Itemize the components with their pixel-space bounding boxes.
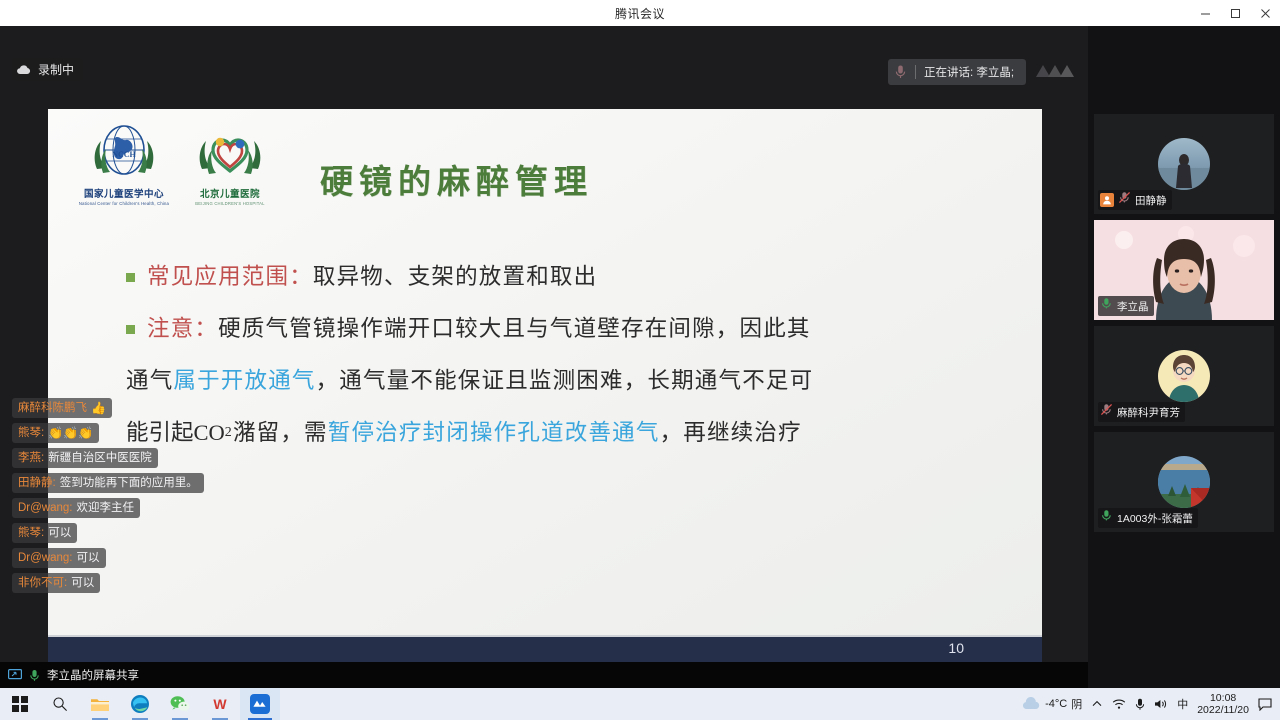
taskbar-edge-browser[interactable] (120, 688, 160, 720)
participant-rail: 田静静李立晶麻醉科尹育芳1A003外-张霜蕾 (1088, 26, 1280, 688)
banner-divider (915, 65, 916, 79)
slide-footer: 10 (48, 637, 1042, 662)
line4-d: ，再继续治疗 (660, 407, 802, 459)
microphone-on-icon (1100, 297, 1113, 315)
share-status-bar: 李立晶的屏幕共享 (0, 662, 1088, 688)
action-center-icon (1258, 698, 1272, 711)
participant-name: 李立晶 (1117, 299, 1149, 314)
system-tray: -4°C 阴 (1021, 688, 1280, 720)
bullet-square-icon (126, 273, 135, 282)
rail-spacer (1088, 26, 1280, 114)
microphone-on-icon (1100, 509, 1113, 527)
windows-taskbar: W -4°C 阴 (0, 688, 1280, 720)
microphone-muted-icon (1118, 191, 1131, 209)
tray-weather[interactable]: -4°C 阴 (1021, 696, 1082, 712)
tray-temperature: -4°C (1045, 698, 1067, 710)
logo-ncch-en: National Center for Children's Health, C… (78, 201, 170, 206)
taskbar-items: W (0, 688, 280, 720)
chat-sender: Dr@wang: (18, 550, 73, 566)
participant-name-chip: 田静静 (1098, 190, 1172, 210)
chat-sender: 李燕: (18, 450, 44, 466)
tray-network-button[interactable] (1112, 698, 1126, 710)
bullet-1-rest: 取异物、支架的放置和取出 (313, 264, 597, 289)
taskbar-search-button[interactable] (40, 688, 80, 720)
tray-overflow-button[interactable] (1091, 698, 1103, 710)
chat-text: 欢迎李主任 (77, 500, 135, 516)
slide-body: 常见应用范围：取异物、支架的放置和取出 注意：硬质气管镜操作端开口较大且与气道壁… (126, 251, 1006, 459)
file-explorer-icon (90, 696, 110, 713)
avatar (1158, 350, 1210, 402)
chat-bubble: 熊琴:👏👏👏 (12, 423, 99, 443)
chat-sender: 熊琴: (18, 425, 44, 441)
chat-text: 新疆自治区中医医院 (48, 450, 152, 466)
windows-start-button[interactable] (0, 688, 40, 720)
tray-time: 10:08 (1197, 692, 1249, 704)
chat-message: 熊琴:可以 (12, 523, 252, 543)
tray-microphone-button[interactable] (1135, 698, 1145, 711)
participant-tile[interactable]: 1A003外-张霜蕾 (1094, 432, 1274, 532)
chat-bubble: 麻醉科陈鹏飞👍 (12, 398, 112, 418)
bullet-item-1: 常见应用范围：取异物、支架的放置和取出 (126, 251, 1006, 303)
cloud-icon (16, 64, 31, 75)
chat-text: 可以 (71, 575, 94, 591)
screen-root: 腾讯会议 (0, 0, 1280, 720)
chat-sender: 麻醉科陈鹏飞 (18, 400, 87, 416)
logo-bch-en: BEIJING CHILDREN'S HOSPITAL (184, 201, 276, 206)
chat-bubble: Dr@wang:可以 (12, 548, 106, 568)
chat-bubble: 非你不可:可以 (12, 573, 100, 593)
chat-message: Dr@wang:可以 (12, 548, 252, 568)
avatar (1158, 456, 1210, 508)
recording-indicator[interactable]: 录制中 (12, 58, 83, 81)
chat-sender: Dr@wang: (18, 500, 73, 516)
line4-highlight: 暂停治疗封闭操作孔道改善通气 (328, 407, 660, 459)
windows-start-icon (12, 696, 28, 712)
logo-ncch-cn: 国家儿童医学中心 (78, 186, 170, 200)
avatar (1158, 138, 1210, 190)
participant-tile[interactable]: 田静静 (1094, 114, 1274, 214)
tray-ime-indicator[interactable]: 中 (1177, 696, 1188, 712)
bullet-2-rest: 硬质气管镜操作端开口较大且与气道壁存在间隙，因此其 (218, 316, 811, 341)
tray-clock[interactable]: 10:08 2022/11/20 (1197, 692, 1249, 716)
bullet-square-icon (126, 325, 135, 334)
taskbar-tencent-meeting[interactable] (240, 688, 280, 720)
participant-name-chip: 1A003外-张霜蕾 (1098, 508, 1198, 528)
taskbar-wechat[interactable] (160, 688, 200, 720)
participant-tile[interactable]: 麻醉科尹育芳 (1094, 326, 1274, 426)
svg-text:NCCH: NCCH (112, 150, 136, 159)
bullet-item-2: 注意：硬质气管镜操作端开口较大且与气道壁存在间隙，因此其 (126, 303, 1006, 355)
wps-office-icon: W (210, 696, 230, 712)
chat-overlay: 麻醉科陈鹏飞👍熊琴:👏👏👏李燕:新疆自治区中医医院田静静:签到功能再下面的应用里… (12, 398, 252, 598)
bullet-line-4: 能引起CO2潴留，需暂停治疗封闭操作孔道改善通气，再继续治疗 (126, 407, 1006, 459)
chat-emoji: 👍 (91, 402, 106, 414)
participant-tiles: 田静静李立晶麻醉科尹育芳1A003外-张霜蕾 (1088, 114, 1280, 532)
wifi-icon (1112, 698, 1126, 710)
participant-name: 麻醉科尹育芳 (1117, 405, 1180, 420)
recording-label: 录制中 (38, 61, 74, 78)
bullet-line-3: 通气属于开放通气，通气量不能保证且监测困难，长期通气不足可 (126, 355, 1006, 407)
close-icon (1260, 8, 1271, 19)
cloud-weather-icon (1021, 697, 1041, 711)
logo-ncch: NCCH 国家儿童医学中心 National Center for Childr… (78, 123, 170, 206)
chat-sender: 非你不可: (18, 575, 67, 591)
chat-message: 田静静:签到功能再下面的应用里。 (12, 473, 252, 493)
participant-name-chip: 麻醉科尹育芳 (1098, 402, 1185, 422)
chat-message: Dr@wang:欢迎李主任 (12, 498, 252, 518)
bullet-1-lead: 常见应用范围： (147, 264, 313, 289)
ncch-emblem-icon: NCCH (87, 123, 161, 181)
taskbar-wps-office[interactable]: W (200, 688, 240, 720)
chat-text: 可以 (77, 550, 100, 566)
minimize-icon (1200, 8, 1211, 19)
logo-bch-cn: 北京儿童医院 (184, 186, 276, 200)
chat-bubble: 李燕:新疆自治区中医医院 (12, 448, 158, 468)
bch-emblem-icon (193, 123, 267, 181)
tray-date: 2022/11/20 (1197, 704, 1249, 716)
minimize-button[interactable] (1190, 0, 1220, 26)
search-icon (52, 696, 68, 712)
edge-browser-icon (130, 694, 150, 714)
microphone-tray-icon (1135, 698, 1145, 711)
tencent-meeting-icon (250, 694, 270, 714)
slide-logos: NCCH 国家儿童医学中心 National Center for Childr… (78, 123, 276, 206)
chat-text: 签到功能再下面的应用里。 (60, 475, 198, 491)
maximize-icon (1230, 8, 1241, 19)
microphone-muted-icon (1100, 403, 1113, 421)
chat-bubble: 田静静:签到功能再下面的应用里。 (12, 473, 204, 493)
participant-name: 田静静 (1135, 193, 1167, 208)
shared-screen-stage: 录制中 正在讲话: 李立晶; (0, 26, 1088, 688)
svg-text:W: W (213, 696, 227, 712)
chat-text: 可以 (48, 525, 71, 541)
share-status-label: 李立晶的屏幕共享 (47, 667, 139, 683)
logo-bch: 北京儿童医院 BEIJING CHILDREN'S HOSPITAL (184, 123, 276, 206)
window-titlebar: 腾讯会议 (0, 0, 1280, 26)
window-controls (1190, 0, 1280, 26)
tray-notifications-button[interactable] (1258, 698, 1272, 711)
audio-ripple-icon (1032, 59, 1078, 85)
meeting-window: 录制中 正在讲话: 李立晶; (0, 26, 1280, 688)
tray-volume-button[interactable] (1154, 698, 1168, 710)
chat-message: 李燕:新疆自治区中医医院 (12, 448, 252, 468)
chat-emoji: 👏👏👏 (48, 427, 93, 439)
wechat-icon (170, 695, 190, 713)
chat-sender: 田静静: (18, 475, 56, 491)
chat-sender: 熊琴: (18, 525, 44, 541)
chat-message: 麻醉科陈鹏飞👍 (12, 398, 252, 418)
host-badge-icon (1100, 193, 1114, 207)
chat-message: 熊琴:👏👏👏 (12, 423, 252, 443)
slide-title: 硬镜的麻醉管理 (320, 155, 593, 203)
chat-message: 非你不可:可以 (12, 573, 252, 593)
bullet-2-lead: 注意： (147, 316, 218, 341)
speaker-icon (1154, 698, 1168, 710)
tray-weather-desc: 阴 (1071, 696, 1082, 712)
participant-name: 1A003外-张霜蕾 (1117, 511, 1193, 526)
close-button[interactable] (1250, 0, 1280, 26)
active-speaker-label: 正在讲话: 李立晶; (924, 64, 1014, 80)
participant-tile[interactable]: 李立晶 (1094, 220, 1274, 320)
line3-c: ，通气量不能保证且监测困难，长期通气不足可 (316, 355, 814, 407)
active-speaker-banner: 正在讲话: 李立晶; (888, 59, 1026, 85)
chevron-up-icon (1091, 698, 1103, 710)
window-title: 腾讯会议 (615, 5, 665, 22)
chat-bubble: Dr@wang:欢迎李主任 (12, 498, 140, 518)
microphone-on-icon (29, 669, 40, 682)
participant-name-chip: 李立晶 (1098, 296, 1154, 316)
chat-bubble: 熊琴:可以 (12, 523, 77, 543)
screen-share-icon (8, 669, 22, 681)
maximize-button[interactable] (1220, 0, 1250, 26)
microphone-icon (894, 64, 907, 80)
taskbar-file-explorer[interactable] (80, 688, 120, 720)
slide-page-number: 10 (948, 640, 964, 656)
